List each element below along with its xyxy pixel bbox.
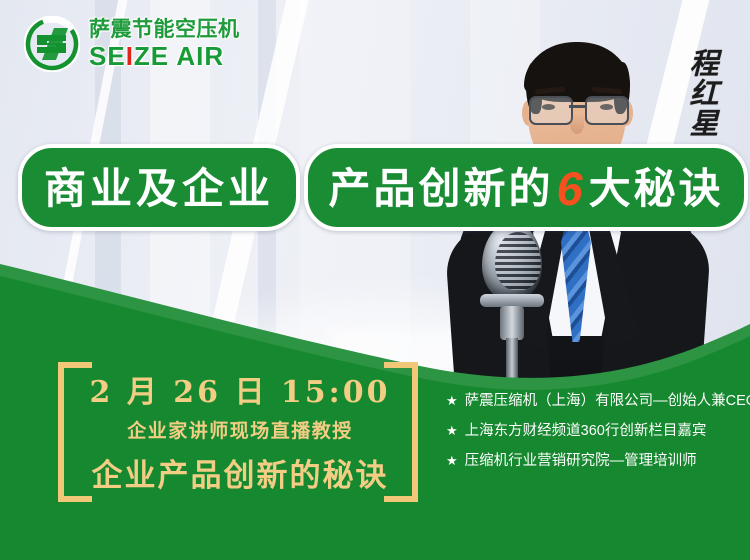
credential-text: 上海东方财经频道360行创新栏目嘉宾: [465, 422, 707, 440]
brand-en-part1: SE: [89, 43, 126, 69]
brand-logo: 萨震节能空压机 SEIZE AIR: [24, 16, 240, 72]
star-icon: ★: [446, 392, 458, 410]
brand-wordmark: 萨震节能空压机 SEIZE AIR: [89, 19, 240, 69]
eyeglass-lens-right: [585, 96, 629, 125]
eyeglass-bridge: [569, 105, 586, 108]
star-icon: ★: [446, 422, 458, 440]
promotional-poster: 程红星 萨震节能空压机 SEIZE AIR 商业及企业 产品创新的6: [0, 0, 750, 560]
star-icon: ★: [446, 452, 458, 470]
credential-item: ★ 压缩机行业营销研究院—管理培训师: [446, 452, 746, 470]
event-info-block: 2 月 26 日 15:00 企业家讲师现场直播教授 企业产品创新的秘诀: [58, 362, 418, 490]
headline-badge-line2: 产品创新的6大秘诀: [304, 144, 747, 231]
headline-badge-line1: 商业及企业: [18, 144, 300, 231]
event-text-lines: 2 月 26 日 15:00 企业家讲师现场直播教授 企业产品创新的秘诀: [88, 362, 392, 495]
credential-text: 压缩机行业营销研究院—管理培训师: [465, 452, 697, 470]
headline-number-six: 6: [553, 162, 588, 215]
speaker-vertical-name: 程红星: [676, 48, 722, 138]
headline-line2-before: 产品创新的: [328, 165, 553, 212]
headline-line2-after: 大秘诀: [589, 165, 724, 212]
brand-name-english: SEIZE AIR: [89, 43, 240, 69]
eyeglass-lens-left: [529, 96, 573, 125]
credential-item: ★ 上海东方财经频道360行创新栏目嘉宾: [446, 422, 746, 440]
brand-en-highlight: I: [126, 43, 134, 69]
event-subtitle: 企业家讲师现场直播教授: [88, 416, 392, 443]
event-main-topic: 企业产品创新的秘诀: [88, 450, 392, 495]
brand-name-chinese: 萨震节能空压机: [89, 19, 240, 40]
seize-air-logo-icon: [24, 16, 80, 72]
bracket-left-decoration: [58, 362, 92, 502]
event-date-time: 2 月 26 日 15:00: [88, 367, 392, 411]
credential-text: 萨震压缩机（上海）有限公司—创始人兼CEO: [465, 392, 750, 410]
credential-item: ★ 萨震压缩机（上海）有限公司—创始人兼CEO: [446, 392, 746, 410]
credentials-list: ★ 萨震压缩机（上海）有限公司—创始人兼CEO ★ 上海东方财经频道360行创新…: [446, 392, 746, 482]
brand-en-part2: ZE AIR: [134, 43, 224, 69]
headline-block: 商业及企业 产品创新的6大秘诀: [18, 130, 748, 231]
